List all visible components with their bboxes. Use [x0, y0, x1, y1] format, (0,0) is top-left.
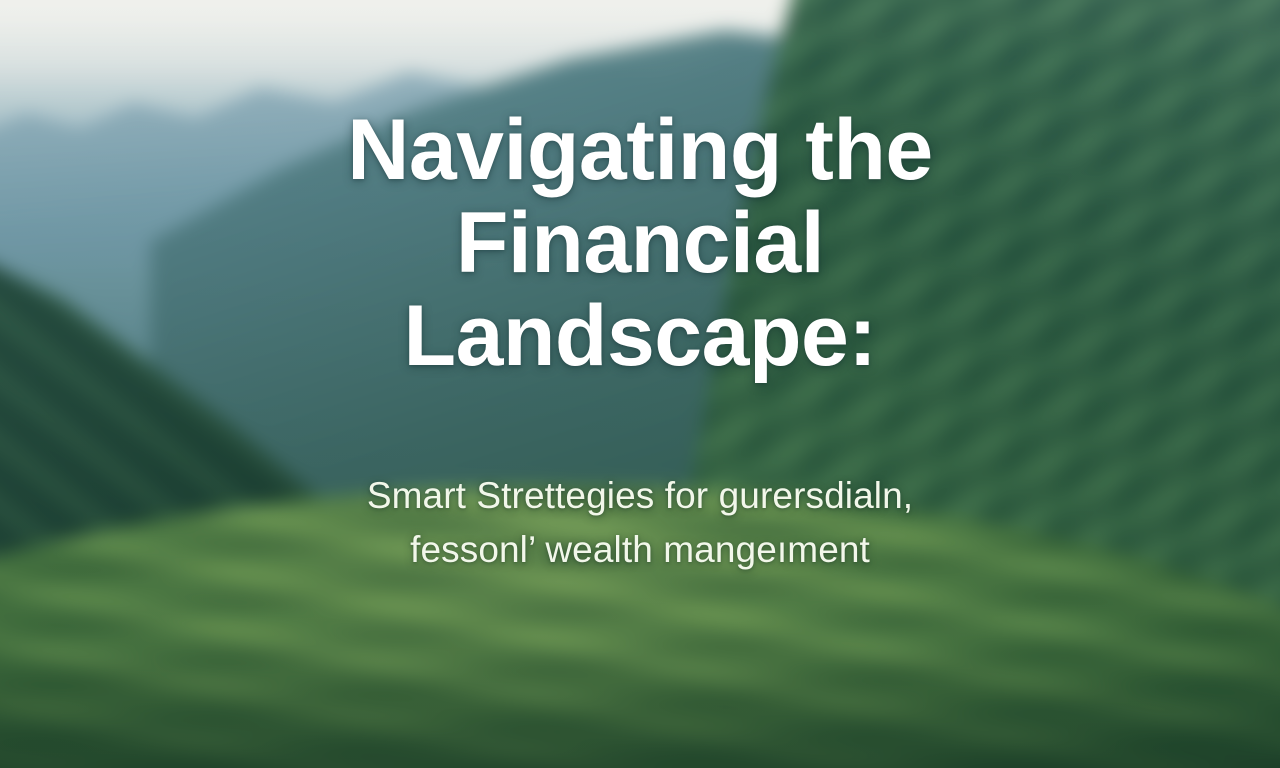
slide-subtitle-line-1: Smart Strettegies for gurersdialn,	[170, 469, 1110, 523]
slide-subtitle-line-2: fessonl’ wealth mangeıment	[170, 523, 1110, 577]
slide-title: Navigating the Financial Landscape:	[200, 104, 1080, 383]
slide-title-line-2: Financial	[200, 197, 1080, 290]
slide-subtitle: Smart Strettegies for gurersdialn, fesso…	[170, 383, 1110, 577]
title-slide: Navigating the Financial Landscape: Smar…	[0, 0, 1280, 768]
slide-title-line-1: Navigating the	[200, 104, 1080, 197]
slide-content: Navigating the Financial Landscape: Smar…	[0, 0, 1280, 768]
slide-title-line-3: Landscape:	[200, 290, 1080, 383]
